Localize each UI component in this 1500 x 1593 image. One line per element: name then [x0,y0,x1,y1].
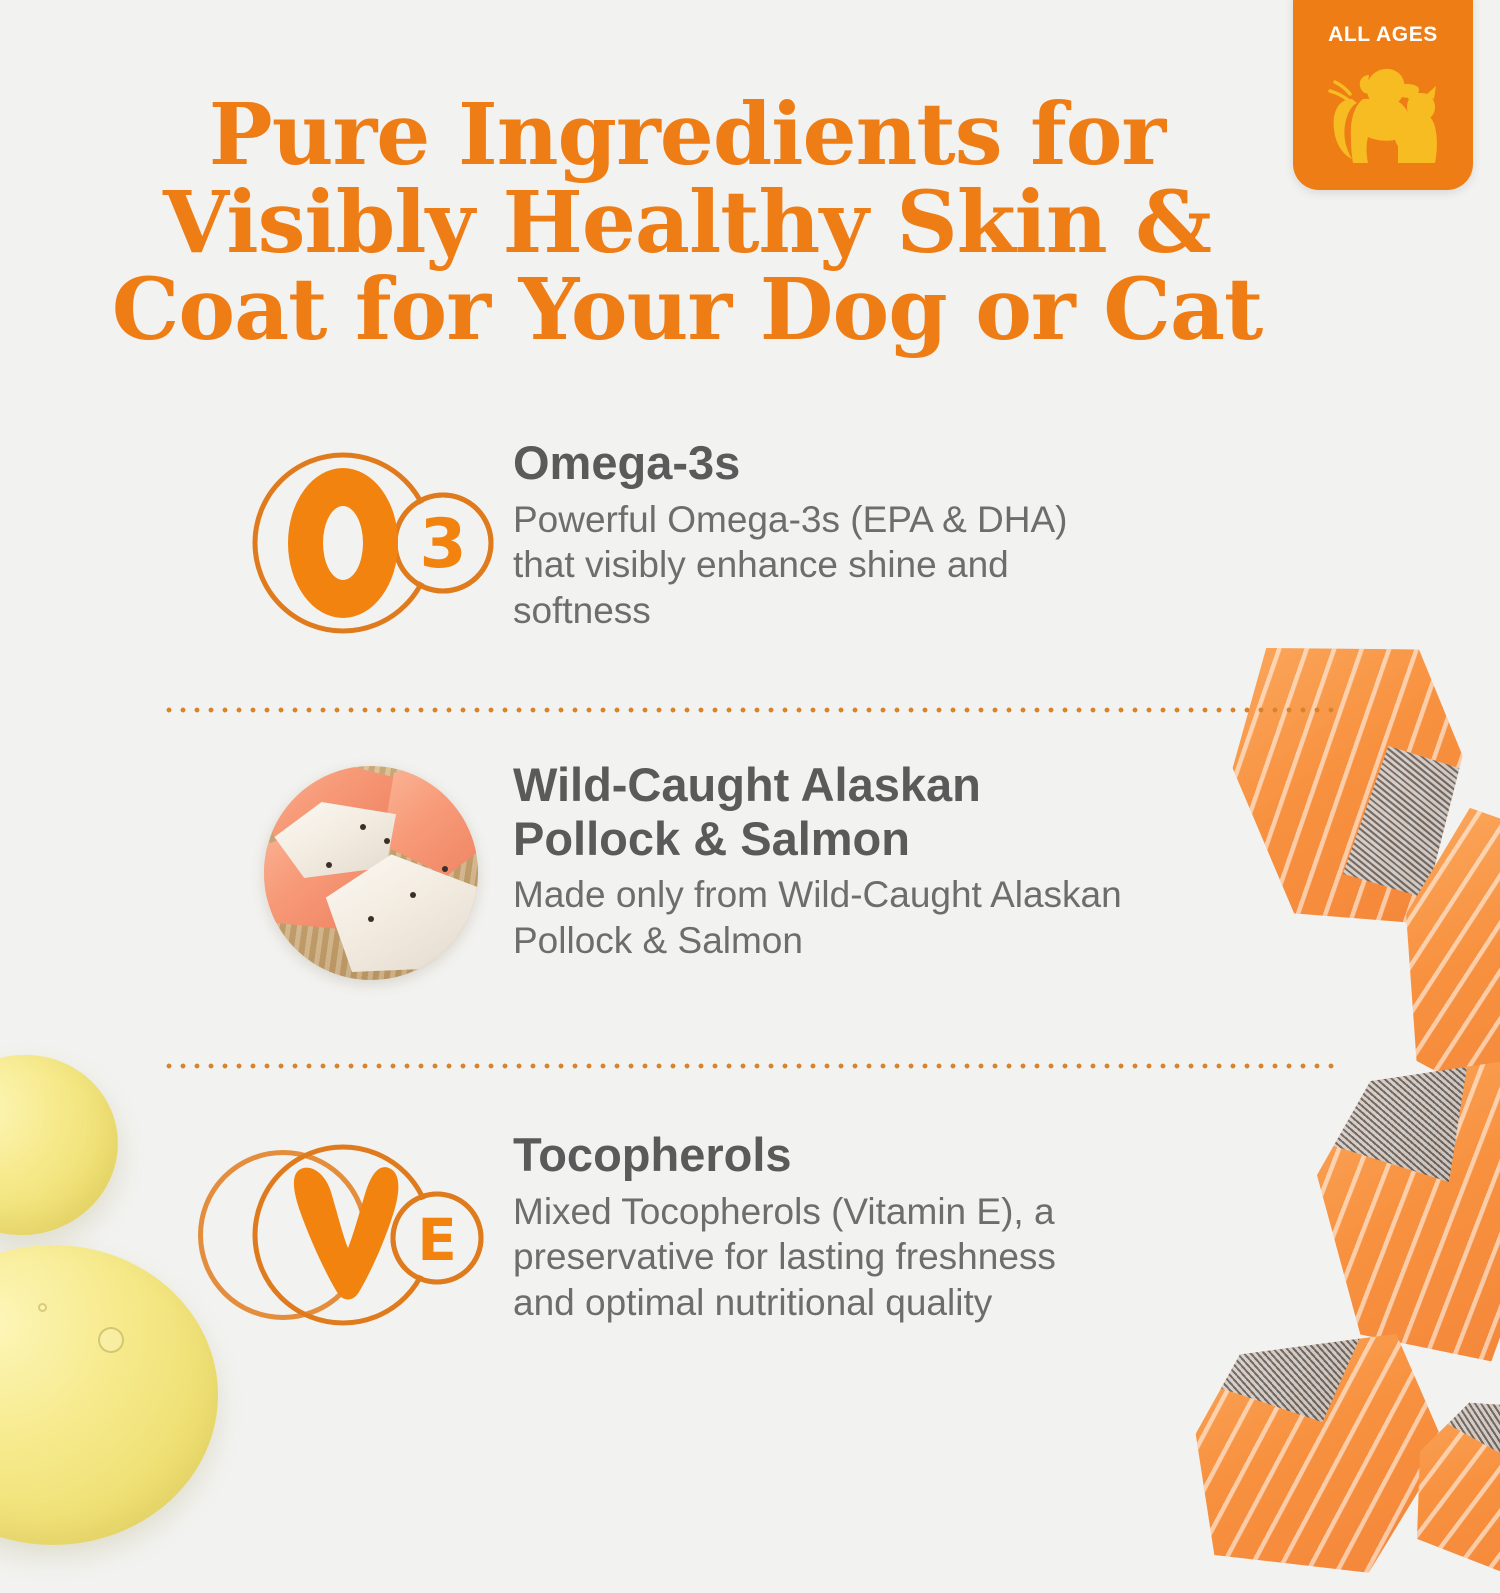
vitamin-e-sub-label: E [417,1206,457,1274]
feature-title: Wild-Caught Alaskan Pollock & Salmon [513,758,1122,865]
infographic-page: Pure Ingredients for Visibly Healthy Ski… [0,0,1500,1500]
pepper-speck [360,824,366,830]
feature-description: Mixed Tocopherols (Vitamin E), a preserv… [513,1189,1056,1327]
omega-3-sub-label: 3 [419,505,466,584]
feature-wild-caught-fish: Wild-Caught Alaskan Pollock & Salmon Mad… [237,758,1387,980]
headline-line-2: Visibly Healthy Skin & [92,180,1282,268]
feature-description: Powerful Omega-3s (EPA & DHA) that visib… [513,497,1068,635]
all-ages-badge: ALL AGES [1293,0,1473,190]
fish-fillets-photo [237,758,505,980]
feature-title: Tocopherols [513,1128,1056,1182]
headline-line-3: Coat for Your Dog or Cat [92,267,1282,355]
pepper-speck [368,916,374,922]
feature-text-block: Tocopherols Mixed Tocopherols (Vitamin E… [505,1128,1056,1326]
vitamin-e-badge-icon: E [237,1128,505,1334]
pepper-speck [326,862,332,868]
pepper-speck [442,866,448,872]
section-divider [162,1062,1342,1070]
pepper-speck [410,892,416,898]
feature-text-block: Wild-Caught Alaskan Pollock & Salmon Mad… [505,758,1122,964]
feature-omega-3s: 3 Omega-3s Powerful Omega-3s (EPA & DHA)… [237,436,1387,642]
page-title: Pure Ingredients for Visibly Healthy Ski… [92,92,1282,355]
dog-and-cat-silhouette-icon [1319,55,1447,178]
feature-title: Omega-3s [513,436,1068,490]
section-divider [162,706,1342,714]
feature-description: Made only from Wild-Caught Alaskan Pollo… [513,872,1122,964]
feature-text-block: Omega-3s Powerful Omega-3s (EPA & DHA) t… [505,436,1068,634]
pepper-speck [384,838,390,844]
all-ages-label: ALL AGES [1328,24,1438,45]
omega-3-badge-icon: 3 [237,436,505,642]
fish-photo-circle [264,766,478,980]
headline-line-1: Pure Ingredients for [92,92,1282,180]
feature-tocopherols: E Tocopherols Mixed Tocopherols (Vitamin… [237,1128,1387,1334]
